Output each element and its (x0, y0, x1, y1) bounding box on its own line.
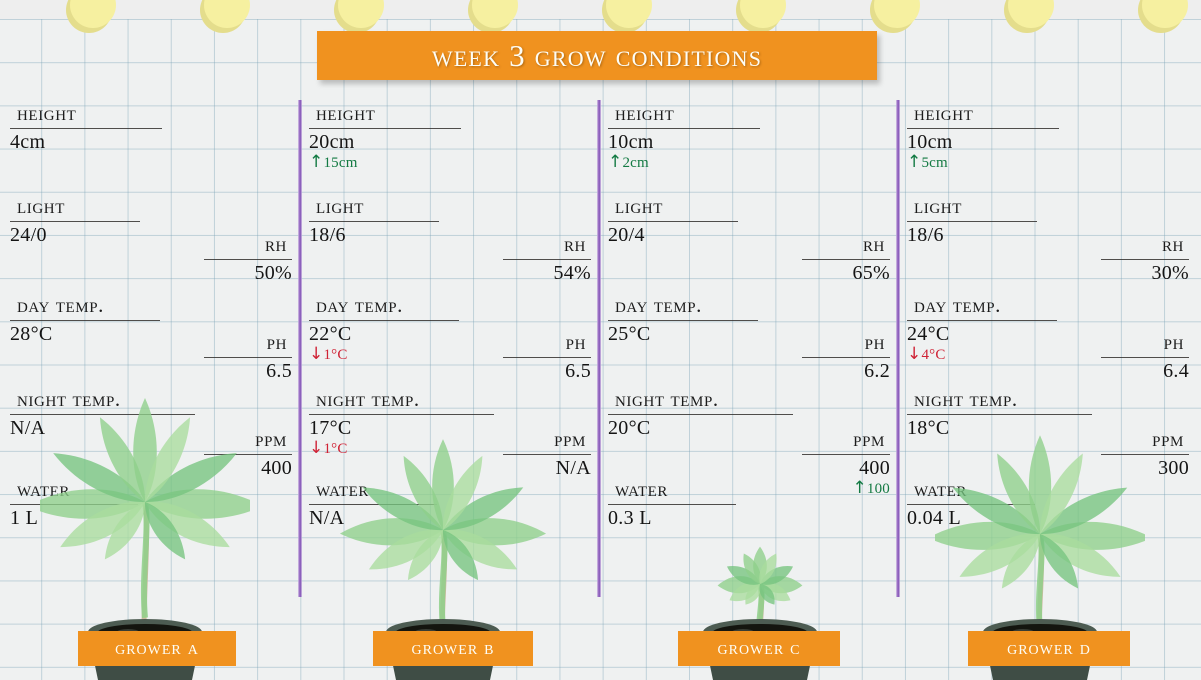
night-temp-metric-1: Night Temp.17°C↓1°C (309, 386, 494, 458)
water-metric-2-label: Water (608, 476, 677, 503)
rh-metric-0-label: RH (254, 231, 292, 258)
height-metric-1-label: Height (309, 100, 384, 127)
grow-journal-page: Height4cmLight24/0Day Temp.28°CNight Tem… (0, 0, 1201, 680)
water-metric-3-label: Water (907, 476, 976, 503)
day-temp-metric-2-value: 25°C (608, 323, 758, 345)
ph-metric-3: pH6.4 (1101, 329, 1189, 382)
rh-metric-2-label: RH (852, 231, 890, 258)
height-metric-3-label: Height (907, 100, 982, 127)
height-metric-0-underline (10, 128, 162, 129)
day-temp-metric-2-label: Day Temp. (608, 292, 711, 319)
page-title-banner: Week 3 Grow Conditions (317, 31, 877, 80)
night-temp-metric-1-underline (309, 414, 494, 415)
arrow-down-icon: ↓ (309, 438, 323, 458)
ppm-metric-1-value: N/A (503, 457, 591, 479)
rh-metric-1-label: RH (553, 231, 591, 258)
height-metric-0-label: Height (10, 100, 85, 127)
light-metric-2-underline (608, 221, 738, 222)
night-temp-metric-2-value: 20°C (608, 417, 793, 439)
day-temp-metric-3-delta-value: 4°C (921, 347, 945, 363)
day-temp-metric-1-value: 22°C (309, 323, 459, 345)
rh-metric-1-underline (503, 259, 591, 260)
ppm-metric-3-value: 300 (1101, 457, 1189, 479)
night-temp-metric-2-underline (608, 414, 793, 415)
day-temp-metric-1-label: Day Temp. (309, 292, 412, 319)
rh-metric-3-value: 30% (1101, 262, 1189, 284)
day-temp-metric-1-delta-value: 1°C (323, 347, 347, 363)
rh-metric-0: RH50% (204, 231, 292, 284)
day-temp-metric-1-delta: ↓1°C (309, 345, 459, 364)
ppm-metric-2-delta: ↑100 (802, 479, 890, 498)
water-metric-2-underline (608, 504, 736, 505)
grower-column-1: Height4cmLight24/0Day Temp.28°CNight Tem… (0, 96, 300, 616)
ppm-metric-1: PPMN/A (503, 426, 591, 479)
height-metric-1-delta: ↑15cm (309, 153, 461, 172)
night-temp-metric-3-underline (907, 414, 1092, 415)
ppm-metric-2-label: PPM (842, 426, 890, 453)
ppm-metric-0-underline (204, 454, 292, 455)
light-metric-2-value: 20/4 (608, 224, 738, 246)
arrow-up-icon: ↑ (907, 152, 921, 172)
rh-metric-0-value: 50% (204, 262, 292, 284)
ppm-metric-2-delta-value: 100 (867, 481, 890, 497)
grower-tag-1[interactable]: Grower A (78, 631, 236, 666)
rh-metric-0-underline (204, 259, 292, 260)
water-metric-1: WaterN/A (309, 476, 437, 529)
night-temp-metric-3-label: Night Temp. (907, 386, 1027, 413)
ph-metric-2: pH6.2 (802, 329, 890, 382)
rh-metric-3-underline (1101, 259, 1189, 260)
ph-metric-1: pH6.5 (503, 329, 591, 382)
rh-metric-3-label: RH (1151, 231, 1189, 258)
water-metric-2-value: 0.3 L (608, 507, 736, 529)
light-metric-0-label: Light (10, 193, 74, 220)
height-metric-2-delta: ↑2cm (608, 153, 760, 172)
height-metric-2-value: 10cm (608, 131, 760, 153)
light-metric-3-underline (907, 221, 1037, 222)
ppm-metric-1-label: PPM (543, 426, 591, 453)
day-temp-metric-1: Day Temp.22°C↓1°C (309, 292, 459, 364)
night-temp-metric-0-value: N/A (10, 417, 195, 439)
light-metric-0-underline (10, 221, 140, 222)
water-metric-3: Water0.04 L (907, 476, 1035, 529)
light-metric-1-underline (309, 221, 439, 222)
water-metric-1-label: Water (309, 476, 378, 503)
water-metric-3-underline (907, 504, 1035, 505)
rh-metric-2-underline (802, 259, 890, 260)
water-metric-3-value: 0.04 L (907, 507, 1035, 529)
page-title: Week 3 Grow Conditions (432, 38, 762, 74)
height-metric-3-delta: ↑5cm (907, 153, 1059, 172)
height-metric-3-underline (907, 128, 1059, 129)
water-metric-0-value: 1 L (10, 507, 138, 529)
grower-tag-label: Grower A (115, 637, 199, 660)
light-metric-0-value: 24/0 (10, 224, 140, 246)
arrow-up-icon: ↑ (309, 152, 323, 172)
night-temp-metric-2-label: Night Temp. (608, 386, 728, 413)
height-metric-1-value: 20cm (309, 131, 461, 153)
rh-metric-2-value: 65% (802, 262, 890, 284)
water-metric-2: Water0.3 L (608, 476, 736, 529)
height-metric-0: Height4cm (10, 100, 162, 153)
height-metric-2-delta-value: 2cm (622, 155, 648, 171)
ph-metric-3-value: 6.4 (1101, 360, 1189, 382)
ph-metric-2-underline (802, 357, 890, 358)
night-temp-metric-0: Night Temp.N/A (10, 386, 195, 439)
grower-tag-4[interactable]: Grower D (968, 631, 1130, 666)
height-metric-2-label: Height (608, 100, 683, 127)
ppm-metric-2: PPM400↑100 (802, 426, 890, 498)
light-metric-1: Light18/6 (309, 193, 439, 246)
ppm-metric-0: PPM400 (204, 426, 292, 479)
ph-metric-1-value: 6.5 (503, 360, 591, 382)
water-metric-1-value: N/A (309, 507, 437, 529)
ppm-metric-2-underline (802, 454, 890, 455)
height-metric-3-delta-value: 5cm (921, 155, 947, 171)
ph-metric-1-underline (503, 357, 591, 358)
water-metric-0-underline (10, 504, 138, 505)
day-temp-metric-2-underline (608, 320, 758, 321)
light-metric-0: Light24/0 (10, 193, 140, 246)
day-temp-metric-0-underline (10, 320, 160, 321)
ph-metric-3-underline (1101, 357, 1189, 358)
grower-column-2: Height20cm↑15cmLight18/6Day Temp.22°C↓1°… (299, 96, 599, 616)
grower-tag-2[interactable]: Grower B (373, 631, 533, 666)
grower-tag-3[interactable]: Grower C (678, 631, 840, 666)
ppm-metric-2-value: 400 (802, 457, 890, 479)
light-metric-3: Light18/6 (907, 193, 1037, 246)
grower-column-4: Height10cm↑5cmLight18/6Day Temp.24°C↓4°C… (897, 96, 1197, 616)
night-temp-metric-1-delta: ↓1°C (309, 439, 494, 458)
day-temp-metric-0-value: 28°C (10, 323, 160, 345)
day-temp-metric-0: Day Temp.28°C (10, 292, 160, 345)
ph-metric-3-label: pH (1153, 329, 1189, 356)
day-temp-metric-3-underline (907, 320, 1057, 321)
water-metric-0: Water1 L (10, 476, 138, 529)
ph-metric-0-value: 6.5 (204, 360, 292, 382)
rh-metric-3: RH30% (1101, 231, 1189, 284)
day-temp-metric-3: Day Temp.24°C↓4°C (907, 292, 1057, 364)
rh-metric-1-value: 54% (503, 262, 591, 284)
grower-tag-label: Grower B (412, 637, 495, 660)
grower-tag-label: Grower D (1007, 637, 1091, 660)
light-metric-1-label: Light (309, 193, 373, 220)
ppm-metric-3-underline (1101, 454, 1189, 455)
arrow-down-icon: ↓ (907, 344, 921, 364)
height-metric-2: Height10cm↑2cm (608, 100, 760, 172)
night-temp-metric-3-value: 18°C (907, 417, 1092, 439)
height-metric-0-value: 4cm (10, 131, 162, 153)
day-temp-metric-2: Day Temp.25°C (608, 292, 758, 345)
height-metric-1: Height20cm↑15cm (309, 100, 461, 172)
light-metric-3-label: Light (907, 193, 971, 220)
arrow-up-icon: ↑ (608, 152, 622, 172)
night-temp-metric-1-delta-value: 1°C (323, 441, 347, 457)
ppm-metric-0-label: PPM (244, 426, 292, 453)
night-temp-metric-3: Night Temp.18°C (907, 386, 1092, 439)
height-metric-1-underline (309, 128, 461, 129)
ppm-metric-3-label: PPM (1141, 426, 1189, 453)
light-metric-1-value: 18/6 (309, 224, 439, 246)
day-temp-metric-3-delta: ↓4°C (907, 345, 1057, 364)
day-temp-metric-0-label: Day Temp. (10, 292, 113, 319)
ph-metric-2-value: 6.2 (802, 360, 890, 382)
arrow-up-icon: ↑ (852, 478, 866, 498)
ph-metric-0-underline (204, 357, 292, 358)
rh-metric-1: RH54% (503, 231, 591, 284)
height-metric-2-underline (608, 128, 760, 129)
ppm-metric-1-underline (503, 454, 591, 455)
arrow-down-icon: ↓ (309, 344, 323, 364)
day-temp-metric-3-value: 24°C (907, 323, 1057, 345)
height-metric-3-value: 10cm (907, 131, 1059, 153)
water-metric-0-label: Water (10, 476, 79, 503)
night-temp-metric-0-label: Night Temp. (10, 386, 130, 413)
day-temp-metric-3-label: Day Temp. (907, 292, 1010, 319)
grower-column-3: Height10cm↑2cmLight20/4Day Temp.25°CNigh… (598, 96, 898, 616)
light-metric-3-value: 18/6 (907, 224, 1037, 246)
night-temp-metric-1-label: Night Temp. (309, 386, 429, 413)
height-metric-3: Height10cm↑5cm (907, 100, 1059, 172)
ppm-metric-0-value: 400 (204, 457, 292, 479)
grower-tag-label: Grower C (718, 637, 801, 660)
rh-metric-2: RH65% (802, 231, 890, 284)
night-temp-metric-2: Night Temp.20°C (608, 386, 793, 439)
ph-metric-2-label: pH (854, 329, 890, 356)
water-metric-1-underline (309, 504, 437, 505)
light-metric-2-label: Light (608, 193, 672, 220)
night-temp-metric-0-underline (10, 414, 195, 415)
ph-metric-0-label: pH (256, 329, 292, 356)
night-temp-metric-1-value: 17°C (309, 417, 494, 439)
ppm-metric-3: PPM300 (1101, 426, 1189, 479)
ph-metric-0: pH6.5 (204, 329, 292, 382)
light-metric-2: Light20/4 (608, 193, 738, 246)
height-metric-1-delta-value: 15cm (323, 155, 357, 171)
ph-metric-1-label: pH (555, 329, 591, 356)
day-temp-metric-1-underline (309, 320, 459, 321)
